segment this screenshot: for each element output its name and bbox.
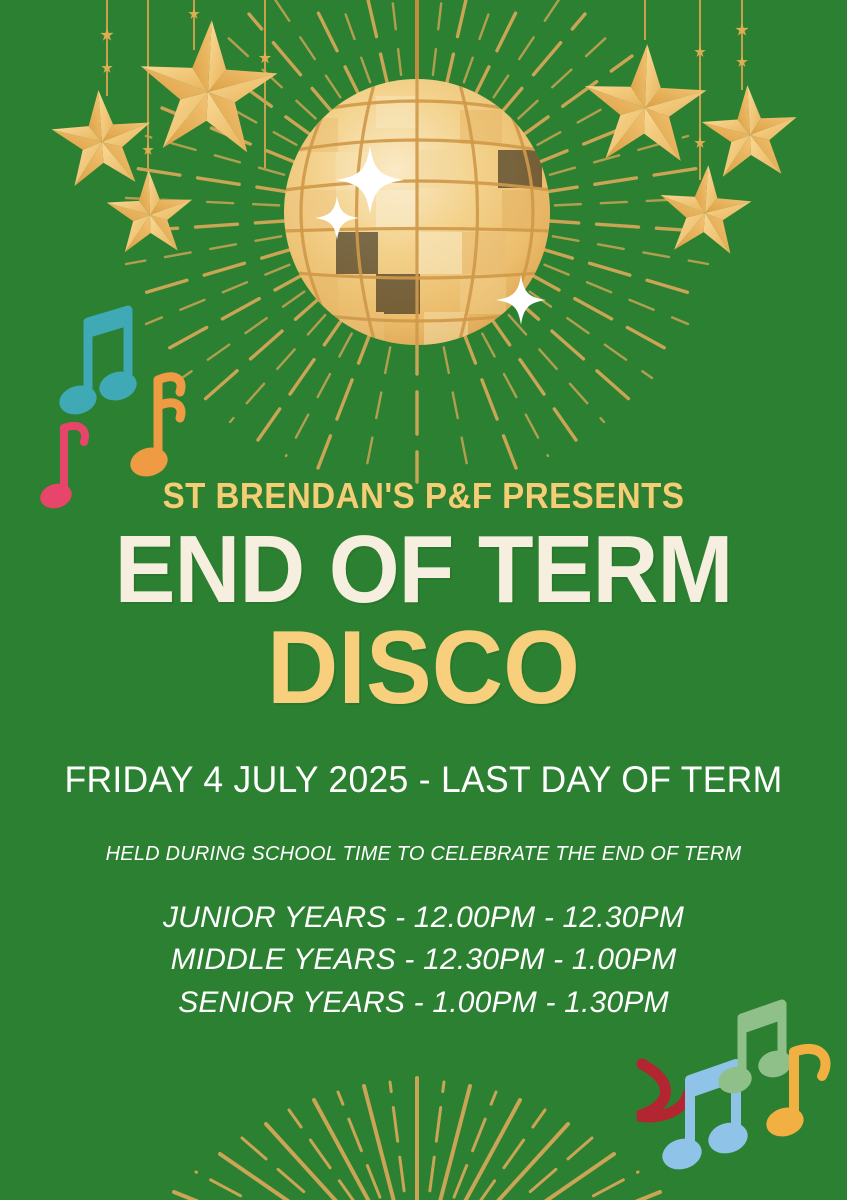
sunburst-rays-bottom	[144, 1078, 690, 1200]
music-note-red-swoosh	[638, 1064, 688, 1117]
session-item-senior: SENIOR YEARS - 1.00PM - 1.30PM	[0, 982, 847, 1025]
music-notes-right	[638, 1004, 826, 1174]
string-mini-stars-left	[100, 8, 271, 155]
disco-poster: ST BRENDAN'S P&F PRESENTS END OF TERM DI…	[0, 0, 847, 1200]
music-note-blue	[659, 1064, 752, 1174]
title-line-2: DISCO	[21, 619, 826, 718]
music-note-amber	[763, 1049, 826, 1141]
poster-text-block: ST BRENDAN'S P&F PRESENTS END OF TERM DI…	[0, 478, 847, 1024]
presenter-line: ST BRENDAN'S P&F PRESENTS	[34, 478, 813, 514]
session-item-junior: JUNIOR YEARS - 12.00PM - 12.30PM	[0, 897, 847, 940]
disco-ball	[256, 0, 579, 348]
disco-ball-sparkles	[315, 146, 546, 325]
sunburst-rays-behind-ball	[122, 0, 712, 482]
event-note-line: HELD DURING SCHOOL TIME TO CELEBRATE THE…	[0, 843, 847, 865]
hanging-star-left-1	[49, 87, 154, 188]
disco-ball-facets	[256, 79, 579, 348]
hanging-star-left-2	[137, 17, 281, 154]
hanging-star-right-3	[657, 162, 754, 255]
hanging-strings-left	[107, 0, 265, 172]
hanging-star-right-1	[582, 42, 708, 162]
string-mini-stars-right	[694, 23, 748, 148]
music-note-orange	[127, 377, 181, 481]
hanging-star-right-2	[700, 83, 800, 178]
event-date-line: FRIDAY 4 JULY 2025 - LAST DAY OF TERM	[17, 760, 830, 801]
hanging-star-left-3	[106, 169, 194, 253]
music-note-teal	[56, 310, 140, 419]
hanging-strings-right	[645, 0, 742, 180]
session-item-middle: MIDDLE YEARS - 12.30PM - 1.00PM	[0, 939, 847, 982]
session-times-list: JUNIOR YEARS - 12.00PM - 12.30PM MIDDLE …	[0, 897, 847, 1025]
title-line-1: END OF TERM	[21, 524, 826, 615]
